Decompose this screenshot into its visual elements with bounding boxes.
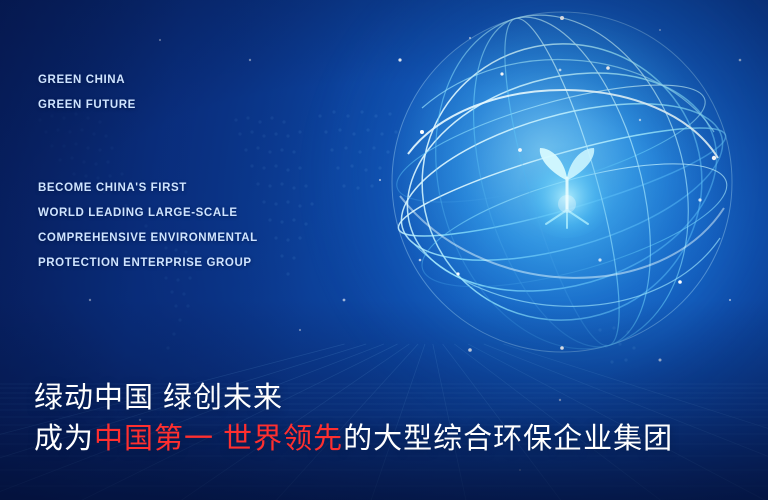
headline-accent: 中国第一 世界领先 [94,423,343,455]
headline-suffix: 的大型综合环保企业集团 [343,423,673,455]
english-body-line-1: BECOME CHINA'S FIRST [38,176,328,201]
chinese-headline-line-2: 成为中国第一 世界领先的大型综合环保企业集团 [34,418,744,460]
english-tagline-line-2: GREEN FUTURE [38,93,328,118]
banner-image: GREEN CHINA GREEN FUTURE BECOME CHINA'S … [0,0,768,500]
english-body-line-3: COMPREHENSIVE ENVIRONMENTAL [38,226,328,251]
chinese-headline-block: 绿动中国 绿创未来 成为中国第一 世界领先的大型综合环保企业集团 [34,378,744,460]
english-body-group: BECOME CHINA'S FIRST WORLD LEADING LARGE… [38,176,328,276]
english-copy-block: GREEN CHINA GREEN FUTURE BECOME CHINA'S … [38,68,328,276]
english-body-line-2: WORLD LEADING LARGE-SCALE [38,201,328,226]
chinese-headline-line-1: 绿动中国 绿创未来 [34,378,744,418]
english-tagline-line-1: GREEN CHINA [38,68,328,93]
english-body-line-4: PROTECTION ENTERPRISE GROUP [38,251,328,276]
headline-prefix: 成为 [34,423,94,455]
